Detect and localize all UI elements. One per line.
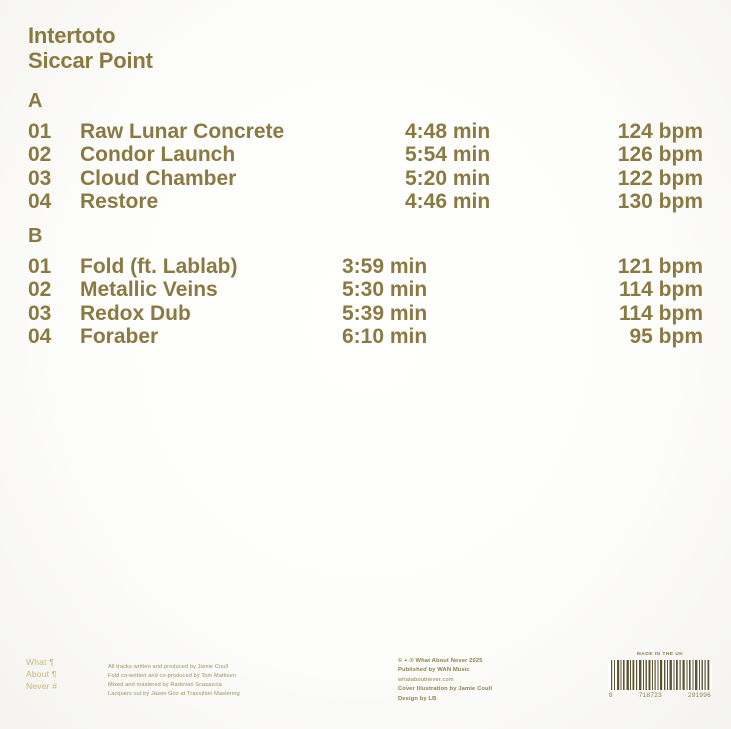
track-bpm: 130 bpm (599, 190, 703, 213)
track-bpm: 95 bpm (578, 325, 703, 348)
track-number: 04 (28, 190, 80, 213)
barcode-digit-prefix: 8 (609, 692, 613, 699)
table-row: 03 Cloud Chamber 5:20 min 122 bpm (28, 167, 703, 190)
track-number: 01 (28, 255, 80, 278)
table-row: 01 Fold (ft. Lablab) 3:59 min 121 bpm (28, 255, 703, 278)
release-header: Intertoto Siccar Point (28, 24, 153, 73)
made-in-label: MADE IN THE UK (608, 652, 712, 657)
website-line[interactable]: whataboutnever.com (398, 676, 492, 685)
label-logo: What ¶ About ¶ Never # (26, 656, 57, 692)
table-row: 02 Condor Launch 5:54 min 126 bpm (28, 143, 703, 166)
label-logo-line-1: What ¶ (26, 656, 57, 668)
table-row: 04 Foraber 6:10 min 95 bpm (28, 325, 703, 348)
copyright-line: © + ℗ What About Never 2025 (398, 657, 492, 666)
credit-line: Lacquers cut by Jason Goz at Transition … (108, 690, 240, 699)
table-row: 01 Raw Lunar Concrete 4:48 min 124 bpm (28, 120, 703, 143)
label-logo-line-2: About ¶ (26, 668, 57, 680)
track-bpm: 114 bpm (578, 278, 703, 301)
track-title: Restore (80, 190, 405, 213)
track-bpm: 114 bpm (578, 302, 703, 325)
track-duration: 5:39 min (342, 302, 578, 325)
cover-illustration-line: Cover Illustration by Jamie Coull (398, 685, 492, 694)
track-bpm: 122 bpm (599, 167, 703, 190)
design-line: Design by LB (398, 695, 492, 704)
barcode-digits-left: 718723 (639, 692, 662, 699)
release-title: Siccar Point (28, 49, 153, 74)
tracklist-side-a: A 01 Raw Lunar Concrete 4:48 min 124 bpm… (28, 91, 703, 213)
track-title: Condor Launch (80, 143, 405, 166)
track-bpm: 124 bpm (599, 120, 703, 143)
track-duration: 4:46 min (405, 190, 599, 213)
credit-line: Mixed and mastered by Radovan Scasascia (108, 681, 240, 690)
track-title: Cloud Chamber (80, 167, 405, 190)
barcode-block: MADE IN THE UK (608, 652, 712, 699)
track-title: Raw Lunar Concrete (80, 120, 405, 143)
track-number: 04 (28, 325, 80, 348)
table-row: 04 Restore 4:46 min 130 bpm (28, 190, 703, 213)
track-title: Fold (ft. Lablab) (80, 255, 342, 278)
track-number: 03 (28, 167, 80, 190)
record-sleeve-back: Intertoto Siccar Point A 01 Raw Lunar Co… (0, 0, 731, 729)
track-bpm: 126 bpm (599, 143, 703, 166)
side-label-b: B (28, 226, 703, 246)
credit-line: Fold co-written and co-produced by Tom M… (108, 672, 240, 681)
track-number: 03 (28, 302, 80, 325)
copyright-credits: © + ℗ What About Never 2025 Published by… (398, 657, 492, 704)
barcode-digits-right: 291996 (688, 692, 711, 699)
track-duration: 4:48 min (405, 120, 599, 143)
track-duration: 5:30 min (342, 278, 578, 301)
sleeve-footer: What ¶ About ¶ Never # All tracks writte… (0, 648, 731, 710)
track-bpm: 121 bpm (578, 255, 703, 278)
track-duration: 5:20 min (405, 167, 599, 190)
track-number: 02 (28, 278, 80, 301)
track-number: 01 (28, 120, 80, 143)
side-label-a: A (28, 91, 703, 111)
table-row: 03 Redox Dub 5:39 min 114 bpm (28, 302, 703, 325)
label-logo-line-3: Never # (26, 680, 57, 692)
table-row: 02 Metallic Veins 5:30 min 114 bpm (28, 278, 703, 301)
track-duration: 5:54 min (405, 143, 599, 166)
barcode-digits: 8 718723 291996 (608, 692, 712, 699)
publisher-line: Published by WAN Music (398, 666, 492, 675)
track-title: Redox Dub (80, 302, 342, 325)
track-title: Metallic Veins (80, 278, 342, 301)
track-number: 02 (28, 143, 80, 166)
track-duration: 3:59 min (342, 255, 578, 278)
tracklist-side-b: B 01 Fold (ft. Lablab) 3:59 min 121 bpm … (28, 226, 703, 348)
artist-name: Intertoto (28, 24, 153, 49)
track-duration: 6:10 min (342, 325, 578, 348)
track-title: Foraber (80, 325, 342, 348)
barcode-icon (608, 660, 712, 690)
credit-line: All tracks written and produced by Jamie… (108, 663, 240, 672)
production-credits: All tracks written and produced by Jamie… (108, 663, 240, 699)
